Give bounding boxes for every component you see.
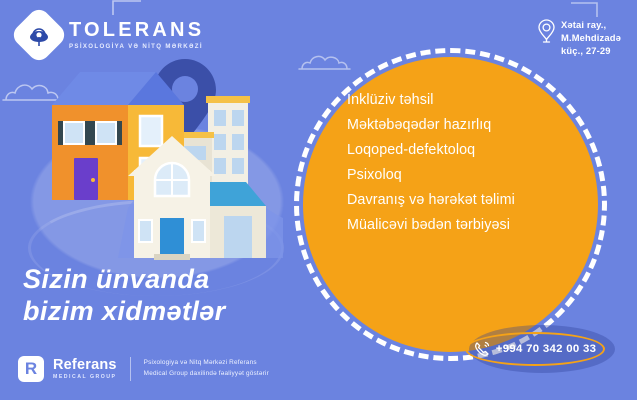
corner-bracket-icon [570, 2, 598, 18]
phone-ringing-icon [474, 341, 490, 357]
tolerans-logo[interactable]: TOLERANS PSİXOLOGİYA VƏ NİTQ MƏRKƏZİ [18, 14, 204, 56]
partner-footer: R Referans MEDICAL GROUP Psixologiya və … [18, 356, 269, 382]
phone-number: +994 70 342 00 33 [496, 343, 596, 355]
headline-line-2: bizim xidmətlər [23, 296, 226, 328]
partner-description-line-1: Psixologiya və Nitq Mərkəzi Referans [144, 358, 269, 369]
headline-line-1: Sizin ünvanda [23, 264, 226, 296]
service-item: Loqoped-defektoloq [347, 142, 597, 158]
apartment-building [176, 96, 250, 228]
houses-and-location-pin-illustration [8, 58, 308, 273]
service-item: Məktəbəqədər hazırlıq [347, 117, 597, 133]
tolerans-flower-emblem-icon [9, 5, 68, 64]
promotional-banner: TOLERANS PSİXOLOGİYA VƏ NİTQ MƏRKƏZİ Xət… [0, 0, 637, 400]
phone-contact[interactable]: +994 70 342 00 33 [465, 332, 605, 366]
partner-description: Psixologiya və Nitq Mərkəzi Referans Med… [144, 358, 269, 379]
address-text: Xətai ray., M.Mehdizadə küç., 27-29 [561, 19, 621, 58]
service-item: Psixoloq [347, 167, 597, 183]
cloud-icon [2, 78, 68, 104]
service-item: Müalicəvi bədən tərbiyəsi [347, 217, 597, 233]
headline: Sizin ünvanda bizim xidmətlər [23, 264, 226, 328]
logo-title: TOLERANS [69, 20, 204, 40]
partner-name: Referans [53, 358, 117, 373]
cottage [128, 136, 266, 260]
partner-tagline: MEDICAL GROUP [53, 375, 117, 380]
address-line-3: küç., 27-29 [561, 45, 621, 58]
address-block: Xətai ray., M.Mehdizadə küç., 27-29 [538, 19, 621, 58]
referans-monogram-icon: R [18, 356, 44, 382]
address-line-1: Xətai ray., [561, 19, 621, 32]
address-line-2: M.Mehdizadə [561, 32, 621, 45]
footer-divider [130, 357, 131, 381]
yellow-house [52, 72, 184, 200]
services-list: İnklüziv təhsil Məktəbəqədər hazırlıq Lo… [347, 92, 597, 233]
map-pin-icon [154, 59, 216, 144]
service-item: İnklüziv təhsil [347, 92, 597, 108]
location-pin-icon [538, 19, 555, 43]
cloud-icon [298, 52, 352, 72]
logo-subtitle: PSİXOLOGİYA VƏ NİTQ MƏRKƏZİ [69, 44, 204, 50]
partner-description-line-2: Medical Group daxilində fəaliyyət göstər… [144, 369, 269, 380]
service-item: Davranış və hərəkət təlimi [347, 192, 597, 208]
